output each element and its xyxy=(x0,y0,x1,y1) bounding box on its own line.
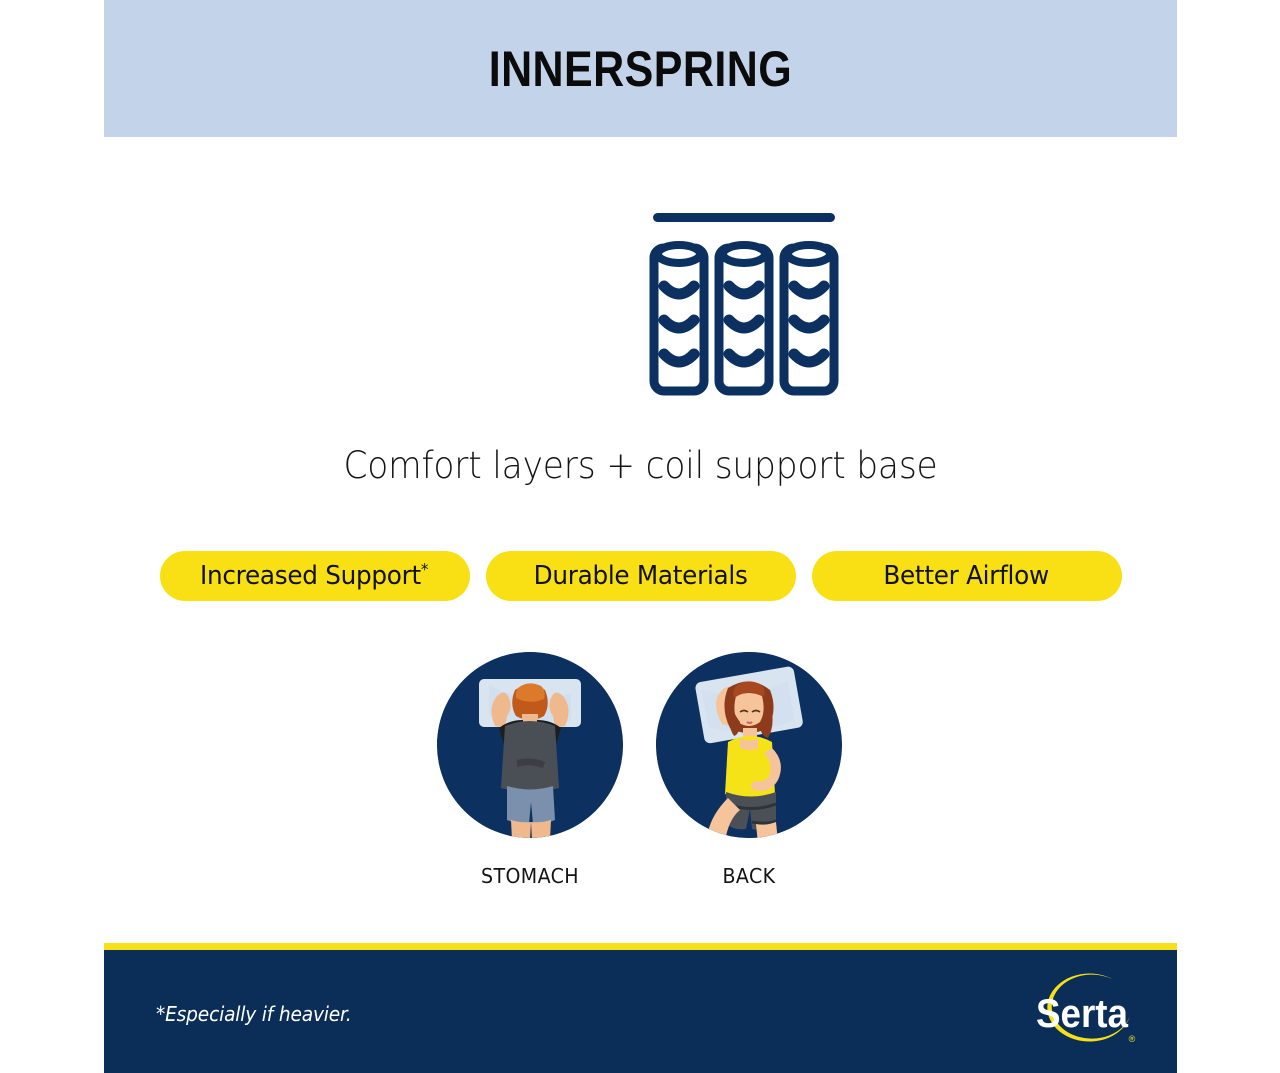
registered-mark: ® xyxy=(1129,1034,1136,1044)
benefit-pill-better-airflow[interactable]: Better Airflow xyxy=(812,551,1122,601)
benefit-pill-label: Increased Support xyxy=(200,561,421,591)
sleep-position-row: STOMACH xyxy=(104,652,1177,912)
coil-stack-icon xyxy=(620,200,860,400)
stomach-sleeper-icon xyxy=(437,652,623,838)
benefit-pill-durable-materials[interactable]: Durable Materials xyxy=(486,551,796,601)
serta-logo: Serta ® xyxy=(1026,960,1146,1064)
benefit-pill-label: Better Airflow xyxy=(884,561,1050,591)
footer-band: *Especially if heavier. Serta ® xyxy=(104,950,1177,1073)
sleep-position-label: STOMACH xyxy=(442,864,619,888)
sleep-position-back: BACK xyxy=(656,652,842,888)
footnote-text: *Especially if heavier. xyxy=(156,1002,352,1026)
sleep-position-stomach: STOMACH xyxy=(437,652,623,888)
benefit-pill-increased-support[interactable]: Increased Support* xyxy=(160,551,470,601)
benefit-pill-row: Increased Support* Durable Materials Bet… xyxy=(104,551,1177,601)
serta-wordmark: Serta xyxy=(1036,992,1129,1037)
back-sleeper-icon xyxy=(656,652,842,838)
sleep-position-label: BACK xyxy=(661,864,838,888)
infographic-page: INNERSPRING xyxy=(0,0,1280,1073)
page-title: INNERSPRING xyxy=(489,40,792,98)
header-band: INNERSPRING xyxy=(104,0,1177,137)
footer-accent-rule xyxy=(104,943,1177,950)
content-column: INNERSPRING xyxy=(104,0,1177,1073)
subtitle-text: Comfort layers + coil support base xyxy=(142,444,1140,487)
benefit-pill-label: Durable Materials xyxy=(534,561,748,591)
benefit-pill-superscript: * xyxy=(421,559,428,578)
